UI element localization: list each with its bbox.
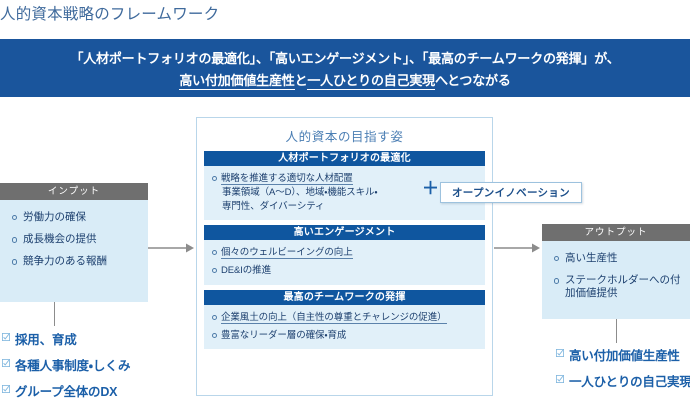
page-title: 人的資本戦略のフレームワーク	[0, 2, 219, 24]
section-header: 人材ポートフォリオの最適化	[204, 151, 485, 166]
output-column-header: アウトプット	[542, 224, 690, 241]
section-header: 高いエンゲージメント	[204, 225, 485, 240]
section-body: 企業風土の向上（自主性の尊重とチャレンジの促進） 豊富なリーダー層の確保・育成	[204, 305, 485, 350]
input-column-header: インプット	[0, 183, 148, 200]
section-header: 最高のチームワークの発揮	[204, 290, 485, 305]
list-item-label: 戦略を推進する適切な人材配置	[221, 173, 353, 185]
check-square-icon	[2, 333, 10, 341]
section-engagement: 高いエンゲージメント 個々のウェルビーイングの向上 DE&Iの推進	[204, 225, 485, 285]
list-item: 競争力のある報酬	[12, 255, 140, 268]
list-item-label: 一人ひとりの自己実現	[569, 371, 690, 390]
list-item: ステークホルダーへの付加価値提供	[554, 274, 682, 300]
list-item-label: 各種人事制度・しくみ	[15, 355, 130, 374]
list-item: DE&Iの推進	[212, 264, 479, 278]
center-panel-title: 人的資本の目指す姿	[204, 126, 485, 145]
banner-suffix: へとつながる	[435, 73, 511, 88]
input-item-list: 労働力の確保 成長機会の提供 競争力のある報酬	[12, 211, 140, 268]
list-item: 企業風土の向上（自主性の尊重とチャレンジの促進）	[212, 311, 479, 325]
list-item: 豊富なリーダー層の確保・育成	[212, 329, 479, 343]
list-item-label: 個々のウェルビーイングの向上	[221, 247, 353, 259]
list-item-label: DE&Iの推進	[221, 265, 271, 276]
list-item: 採用、育成	[2, 329, 130, 348]
output-column: アウトプット 高い生産性 ステークホルダーへの付加価値提供	[542, 224, 690, 319]
list-item: 一人ひとりの自己実現	[556, 371, 690, 390]
list-item: グループ全体のDX	[2, 381, 130, 400]
list-item: 高い生産性	[554, 252, 682, 265]
list-item-label: 採用、育成	[15, 329, 77, 348]
banner-conjunction: と	[295, 73, 308, 88]
list-item: 高い付加価値生産性	[556, 345, 690, 364]
list-item-label: 高い付加価値生産性	[569, 345, 680, 364]
center-panel: 人的資本の目指す姿 人材ポートフォリオの最適化 戦略を推進する適切な人材配置 事…	[196, 117, 493, 396]
open-innovation-callout: オープンイノベーション	[440, 182, 582, 203]
list-item-label: 豊富なリーダー層の確保・育成	[221, 330, 346, 341]
section-teamwork: 最高のチームワークの発揮 企業風土の向上（自主性の尊重とチャレンジの促進） 豊富…	[204, 290, 485, 350]
input-connector-line	[54, 302, 55, 326]
check-square-icon	[556, 349, 564, 357]
output-connector-line	[616, 319, 617, 343]
banner-line-2: 高い付加価値生産性と一人ひとりの自己実現へとつながる	[179, 70, 510, 89]
list-item: 労働力の確保	[12, 211, 140, 224]
input-outcome-list: 採用、育成 各種人事制度・しくみ グループ全体のDX	[2, 329, 130, 400]
plus-icon: ＋	[422, 180, 439, 197]
headline-banner: 「人材ポートフォリオの最適化」、「高いエンゲージメント」、「最高のチームワークの…	[0, 39, 690, 97]
banner-underlined-phrase-2: 一人ひとりの自己実現	[307, 73, 435, 90]
input-column-body: 労働力の確保 成長機会の提供 競争力のある報酬	[0, 200, 148, 302]
list-item: 成長機会の提供	[12, 233, 140, 246]
output-column-body: 高い生産性 ステークホルダーへの付加価値提供	[542, 241, 690, 319]
check-square-icon	[2, 359, 10, 367]
check-square-icon	[556, 375, 564, 383]
arrow-input-to-center-icon	[148, 241, 194, 255]
list-item: 個々のウェルビーイングの向上	[212, 246, 479, 260]
section-item-list: 企業風土の向上（自主性の尊重とチャレンジの促進） 豊富なリーダー層の確保・育成	[212, 311, 479, 343]
banner-underlined-phrase-1: 高い付加価値生産性	[179, 73, 294, 90]
list-item-label: 企業風土の向上（自主性の尊重とチャレンジの促進）	[221, 312, 447, 324]
output-outcome-list: 高い付加価値生産性 一人ひとりの自己実現	[556, 345, 690, 390]
check-square-icon	[2, 385, 10, 393]
section-item-list: 個々のウェルビーイングの向上 DE&Iの推進	[212, 246, 479, 278]
arrow-center-to-output-icon	[494, 241, 540, 255]
list-item-label: グループ全体のDX	[15, 381, 117, 400]
input-column: インプット 労働力の確保 成長機会の提供 競争力のある報酬	[0, 183, 148, 302]
list-item: 各種人事制度・しくみ	[2, 355, 130, 374]
section-body: 個々のウェルビーイングの向上 DE&Iの推進	[204, 240, 485, 285]
banner-line-1: 「人材ポートフォリオの最適化」、「高いエンゲージメント」、「最高のチームワークの…	[70, 48, 619, 67]
output-item-list: 高い生産性 ステークホルダーへの付加価値提供	[554, 252, 682, 300]
